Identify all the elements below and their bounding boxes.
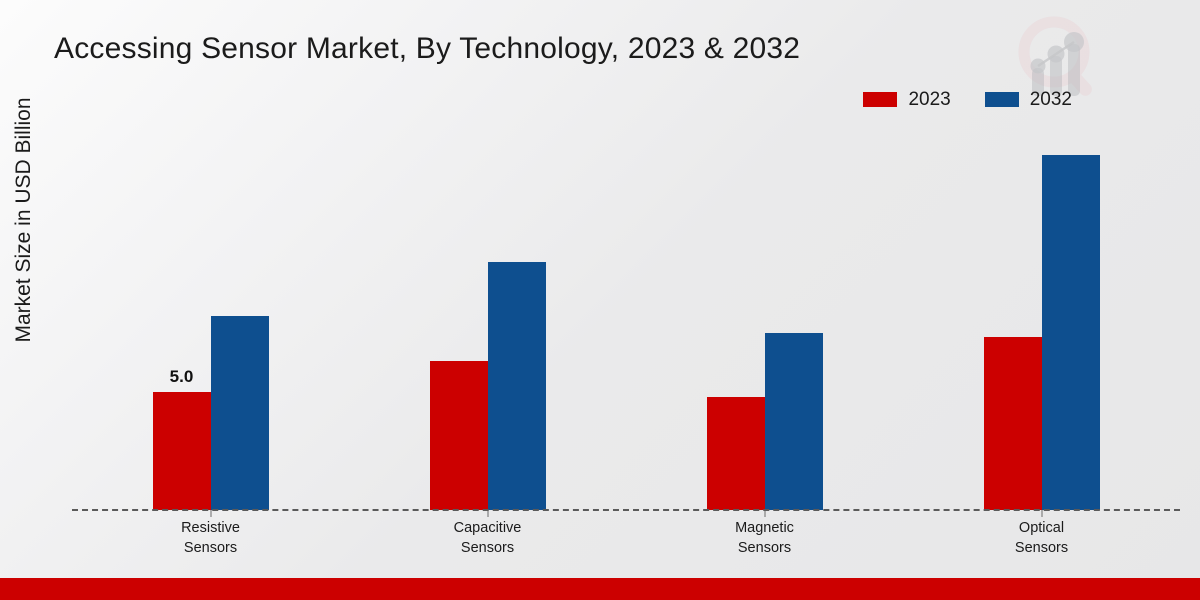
bar-2032-capacitive-sensors[interactable]: [488, 262, 546, 510]
bar-2023-resistive-sensors[interactable]: [153, 392, 211, 510]
bar-2032-resistive-sensors[interactable]: [211, 316, 269, 510]
chart-legend: 2023 2032: [863, 90, 1072, 109]
y-axis-title: Market Size in USD Billion: [12, 50, 36, 390]
bar-wrapper: [488, 262, 546, 510]
legend-swatch-2023: [863, 92, 897, 107]
bar-pair: [984, 120, 1100, 510]
legend-label-2032: 2032: [1030, 90, 1072, 109]
footer-bar: [0, 578, 1200, 600]
bar-2023-optical-sensors[interactable]: [984, 337, 1042, 510]
bar-value-label: 5.0: [170, 367, 194, 387]
x-axis-tick: [210, 510, 211, 517]
bar-wrapper: [1042, 155, 1100, 510]
bar-pair: 5.0: [153, 120, 269, 510]
x-axis-baseline: [72, 509, 1180, 511]
x-axis-tick: [487, 510, 488, 517]
bar-wrapper: [707, 397, 765, 510]
chart-title: Accessing Sensor Market, By Technology, …: [54, 32, 800, 66]
bar-2023-magnetic-sensors[interactable]: [707, 397, 765, 510]
bar-wrapper: 5.0: [153, 392, 211, 510]
legend-item-2023[interactable]: 2023: [863, 90, 950, 109]
x-axis-label-magnetic-sensors: MagneticSensors: [735, 519, 794, 558]
x-axis-tick: [764, 510, 765, 517]
bar-pair: [707, 120, 823, 510]
bar-2032-magnetic-sensors[interactable]: [765, 333, 823, 510]
bar-wrapper: [430, 361, 488, 510]
bar-group: 5.0ResistiveSensors: [72, 120, 349, 510]
chart-figure: Accessing Sensor Market, By Technology, …: [0, 0, 1200, 600]
bar-group: MagneticSensors: [626, 120, 903, 510]
legend-item-2032[interactable]: 2032: [985, 90, 1072, 109]
x-axis-label-optical-sensors: OpticalSensors: [1015, 519, 1068, 558]
bar-wrapper: [765, 333, 823, 510]
x-axis-label-resistive-sensors: ResistiveSensors: [181, 519, 240, 558]
plot-area: 5.0ResistiveSensorsCapacitiveSensorsMagn…: [72, 120, 1180, 510]
bar-pair: [430, 120, 546, 510]
x-axis-tick: [1041, 510, 1042, 517]
bar-group: OpticalSensors: [903, 120, 1180, 510]
bar-2032-optical-sensors[interactable]: [1042, 155, 1100, 510]
bar-group: CapacitiveSensors: [349, 120, 626, 510]
bar-2023-capacitive-sensors[interactable]: [430, 361, 488, 510]
bar-groups: 5.0ResistiveSensorsCapacitiveSensorsMagn…: [72, 120, 1180, 510]
bar-wrapper: [211, 316, 269, 510]
legend-label-2023: 2023: [908, 90, 950, 109]
legend-swatch-2032: [985, 92, 1019, 107]
x-axis-label-capacitive-sensors: CapacitiveSensors: [454, 519, 522, 558]
bar-wrapper: [984, 337, 1042, 510]
